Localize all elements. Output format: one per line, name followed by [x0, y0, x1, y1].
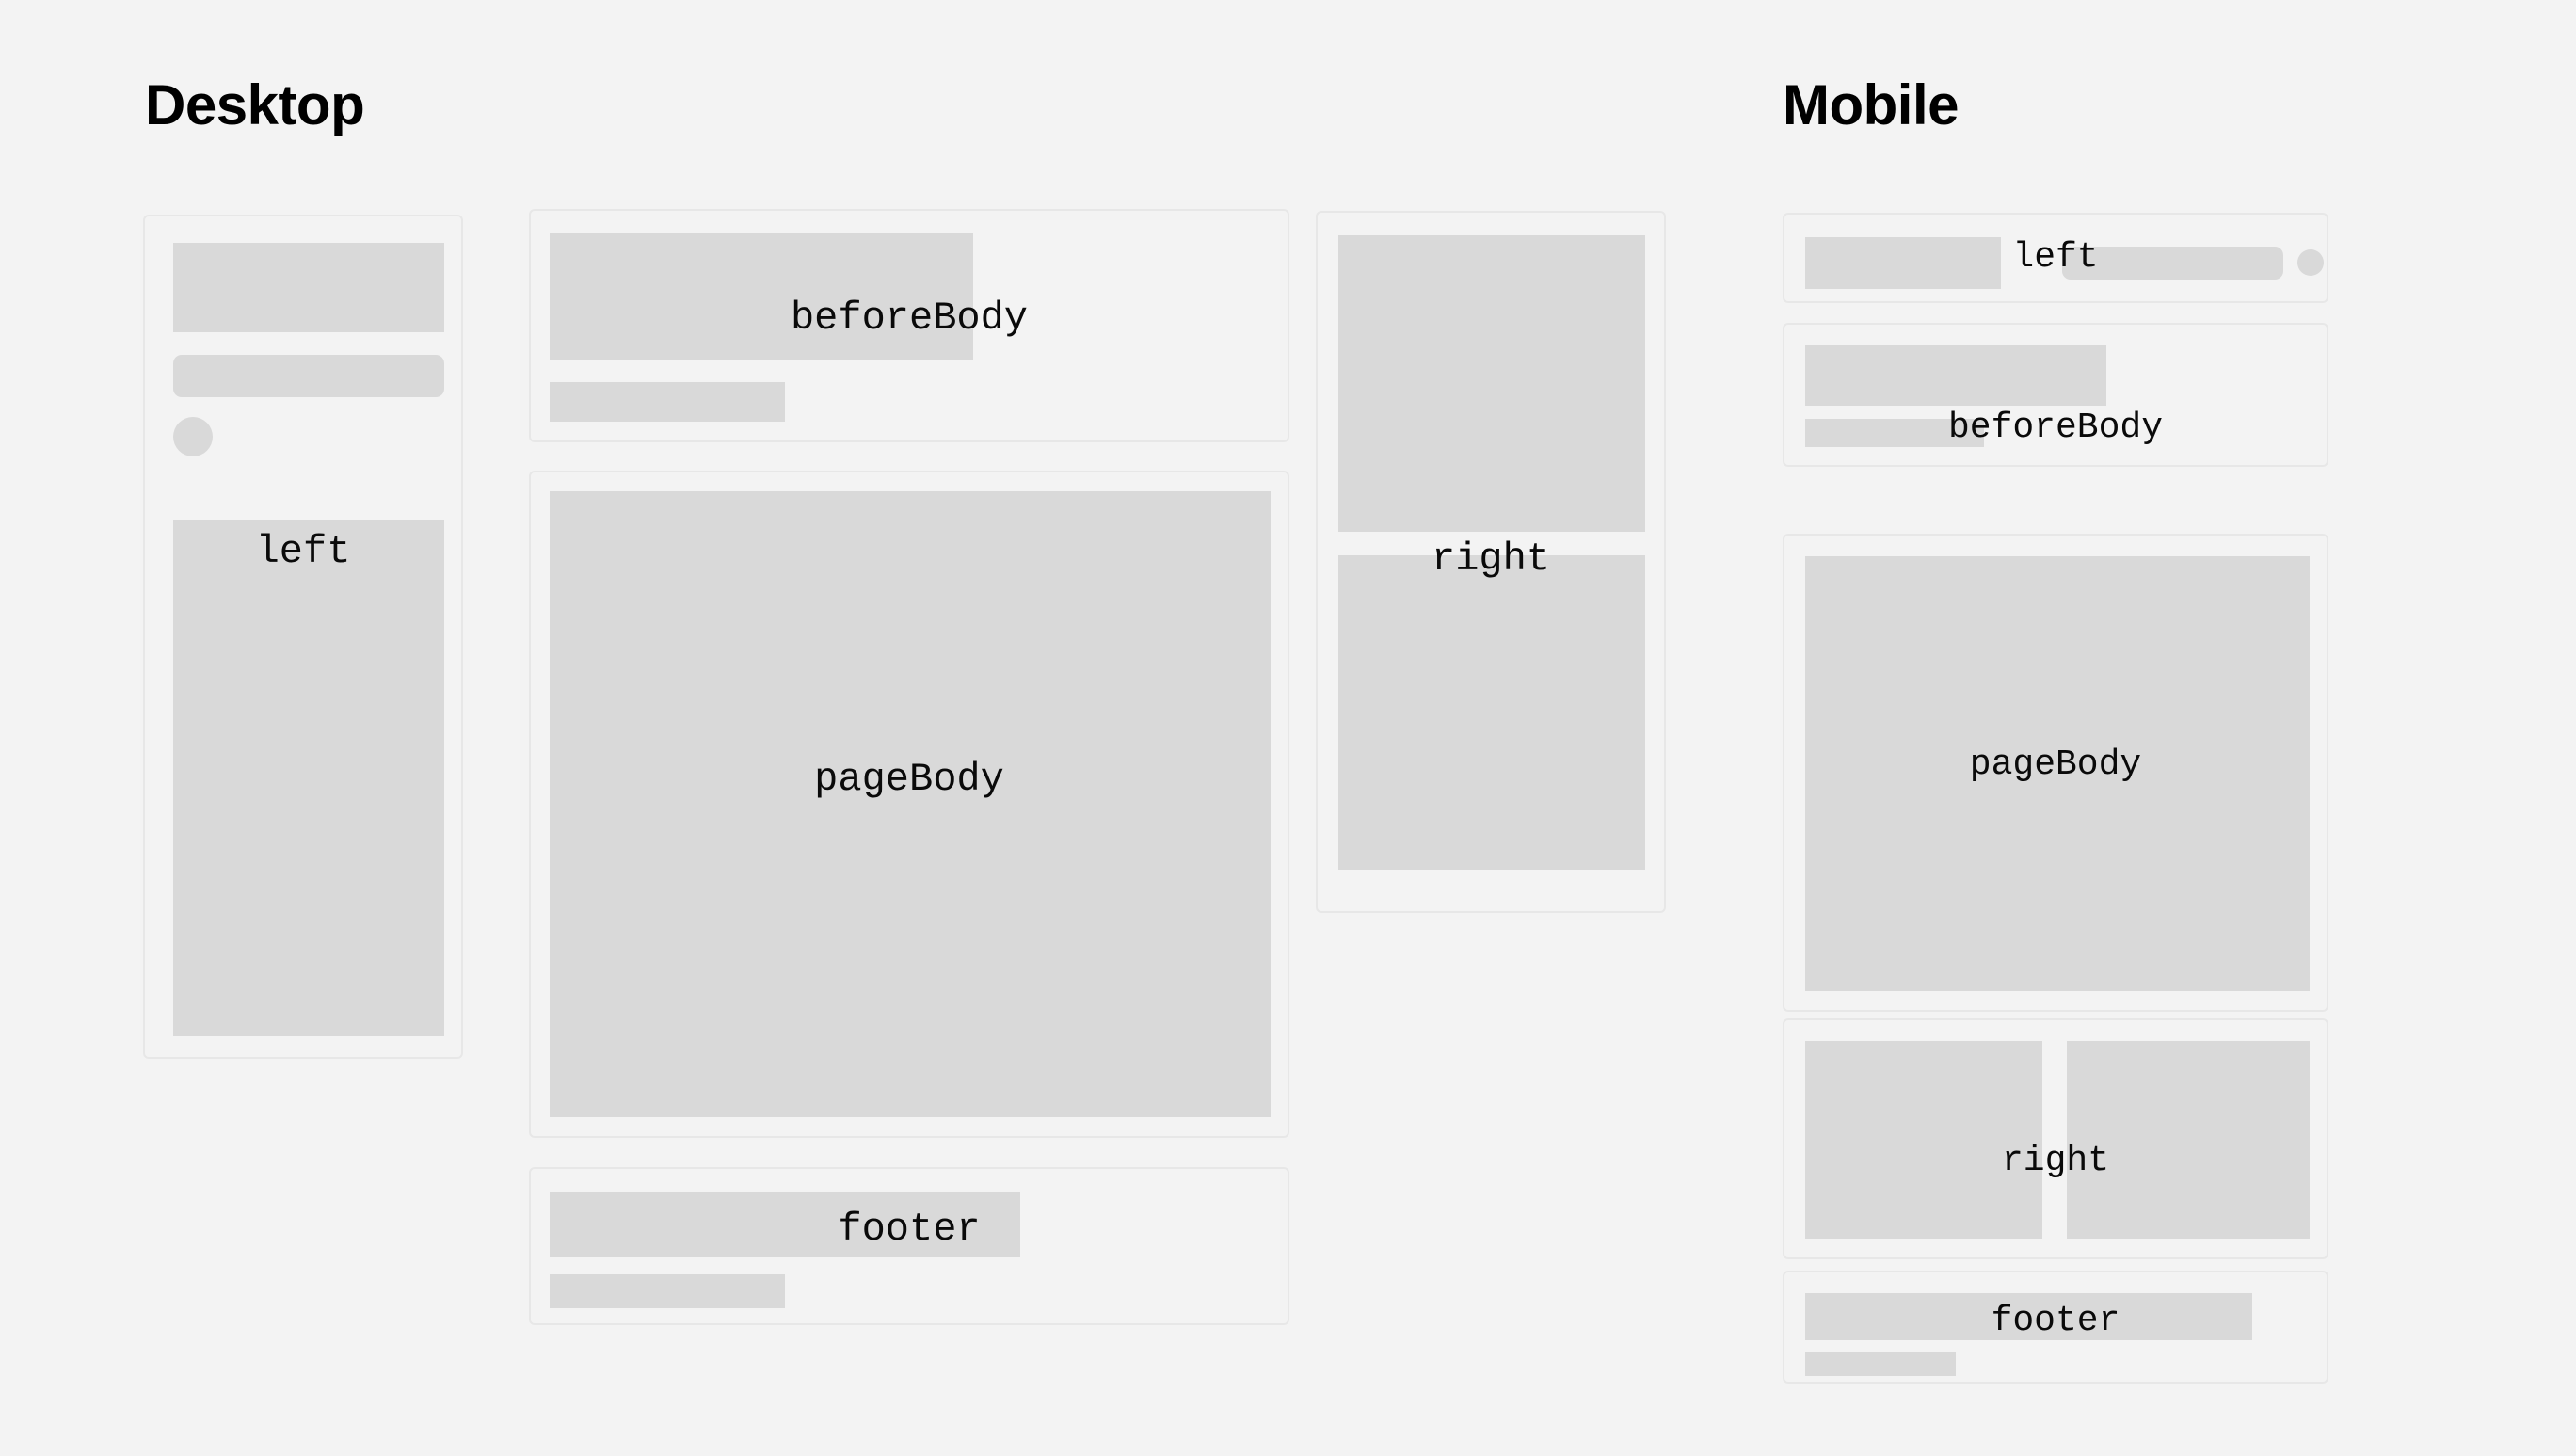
desktop-region-beforebody-panel[interactable] — [529, 209, 1289, 442]
skeleton-bar — [1805, 419, 1984, 447]
desktop-region-left-panel[interactable] — [143, 215, 463, 1059]
skeleton-block — [1805, 556, 2310, 991]
skeleton-bar — [1805, 1352, 1956, 1376]
skeleton-bar — [2062, 247, 2283, 280]
desktop-section-title: Desktop — [145, 77, 364, 134]
desktop-region-right-panel[interactable] — [1316, 211, 1666, 913]
skeleton-block — [1805, 1293, 2252, 1340]
mobile-region-right-panel[interactable] — [1783, 1018, 2328, 1259]
skeleton-block — [550, 233, 973, 360]
mobile-region-left-panel[interactable] — [1783, 213, 2328, 303]
skeleton-block — [1338, 555, 1645, 870]
skeleton-avatar-circle — [173, 417, 213, 456]
layout-preview-stage: Desktop left beforeBody pageBody footer … — [0, 0, 2576, 1456]
skeleton-bar — [550, 382, 785, 422]
skeleton-bar — [173, 355, 444, 397]
mobile-section-title: Mobile — [1783, 77, 1959, 134]
skeleton-block — [550, 1192, 1020, 1257]
mobile-region-pagebody-panel[interactable] — [1783, 534, 2328, 1012]
skeleton-block — [2067, 1041, 2310, 1239]
mobile-region-footer-panel[interactable] — [1783, 1271, 2328, 1384]
skeleton-bar — [550, 1274, 785, 1308]
skeleton-block — [550, 491, 1271, 1117]
skeleton-block — [173, 243, 444, 332]
desktop-region-pagebody-panel[interactable] — [529, 471, 1289, 1138]
skeleton-block — [1805, 1041, 2042, 1239]
skeleton-block — [1805, 345, 2106, 406]
mobile-region-beforebody-panel[interactable] — [1783, 323, 2328, 467]
skeleton-block — [173, 520, 444, 1036]
skeleton-block — [1338, 235, 1645, 532]
skeleton-block — [1805, 237, 2001, 289]
desktop-region-footer-panel[interactable] — [529, 1167, 1289, 1325]
skeleton-avatar-circle — [2297, 249, 2324, 276]
